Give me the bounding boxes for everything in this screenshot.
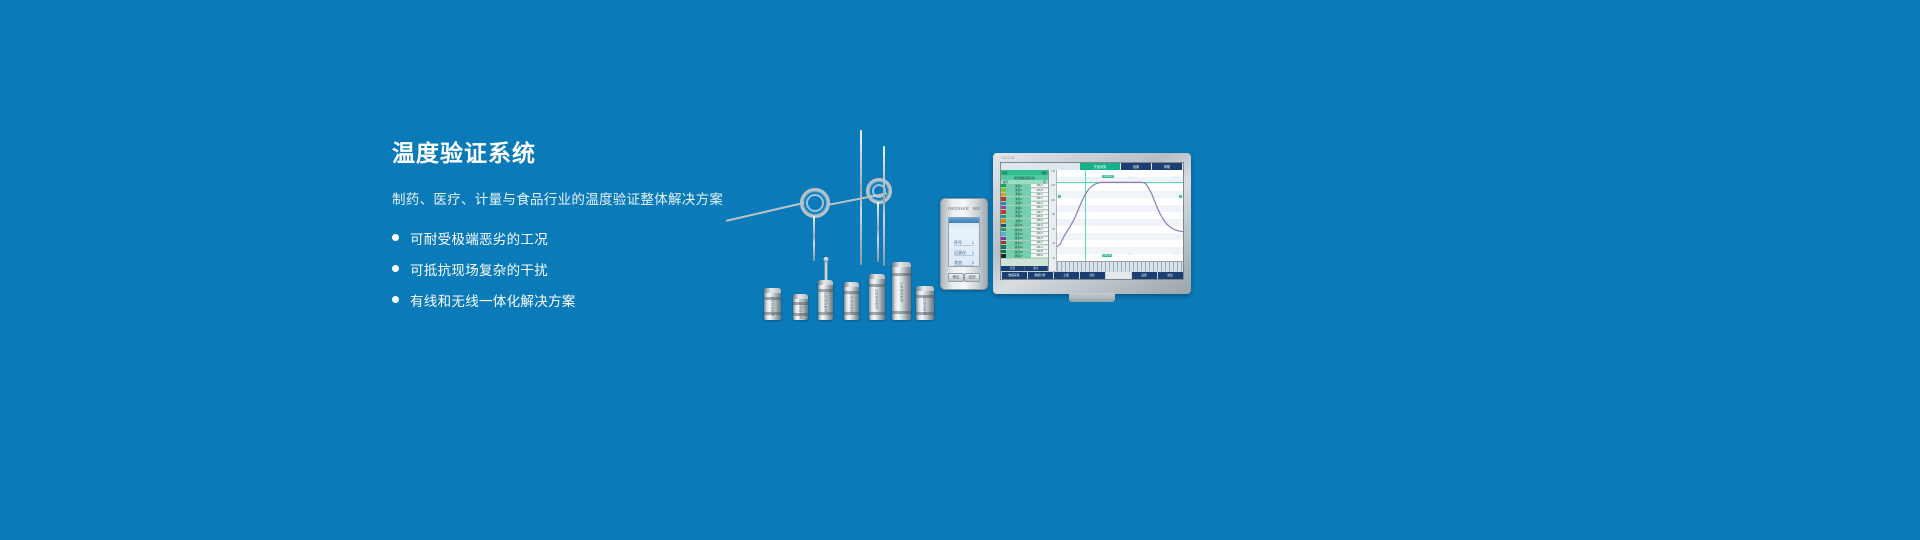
logger-label: LOGGER: [798, 299, 803, 319]
channel-name: 通道14: [1006, 241, 1031, 245]
bottom-bar-button-6[interactable]: 退出: [1158, 272, 1183, 279]
coil-icon: [800, 188, 830, 218]
coil-icon: [866, 178, 892, 204]
handheld-screen: 序号 1 记录仪 1 状态 1: [948, 217, 980, 267]
needle-probe-medium: [883, 146, 885, 266]
table-row[interactable]: 通道17116.5: [1001, 254, 1048, 258]
monitor-stand: [1069, 293, 1115, 302]
chart-annotation-threshold-left: ↕: [1058, 195, 1061, 198]
handheld-keypad[interactable]: 确定 返回: [948, 271, 980, 284]
monitor-screen: 开始采集 设置 帮助 通道 数值 通道数据采集列表 编号 值: [1000, 162, 1184, 280]
handheld-brand: INGNIKE: [948, 206, 969, 211]
channel-value: 116.8: [1031, 250, 1048, 253]
channel-value: 116.0: [1031, 219, 1048, 222]
logger-3: LOGGER: [818, 280, 833, 320]
list-item-label: 可耐受极端恶劣的工况: [410, 228, 548, 248]
channel-name: 通道7: [1006, 210, 1031, 214]
logger-label: LOGGER: [823, 292, 828, 312]
channel-row-list[interactable]: 通道1116.3通道2115.8通道3116.1通道4116.7通道5116.4…: [1001, 184, 1048, 266]
monitor-bezel: INON 开始采集 设置 帮助 通道 数值 通道数: [993, 153, 1191, 294]
channel-value: 116.5: [1031, 254, 1048, 257]
channel-sidebar: 通道 数值 通道数据采集列表 编号 值 通道1116.3通道2115.8通道31…: [1001, 170, 1049, 271]
channel-name: 通道4: [1006, 197, 1031, 201]
monitor-brand: INON: [1001, 155, 1015, 160]
handheld-row-label: 记录仪: [954, 250, 966, 256]
list-item-label: 可抵抗现场复杂的干扰: [410, 259, 548, 279]
handheld-titlebar: [949, 218, 979, 223]
bullet-dot-icon: [392, 234, 399, 241]
chart-ghost-label-left: 121.0: [1128, 176, 1135, 179]
channel-value: 116.7: [1031, 197, 1048, 200]
handheld-row: 状态 1: [954, 260, 974, 266]
bottom-bar-button-2[interactable]: 上报: [1054, 272, 1079, 279]
logger-4: LOGGER: [844, 282, 859, 320]
logger-6: LOGGER: [892, 262, 911, 320]
channel-name: 通道15: [1006, 245, 1031, 249]
chart-annotation-cursor-bottom: 0:32:11: [1102, 254, 1112, 257]
logger-1: LOGGER: [764, 288, 781, 320]
channel-value: 116.1: [1031, 193, 1048, 196]
needle-probe-long: [860, 130, 862, 265]
channel-value: 116.2: [1031, 206, 1048, 209]
channel-name: 通道13: [1006, 236, 1031, 240]
chart-ghost-label-bottom-left: 121.0: [1128, 253, 1135, 256]
bottom-bar-button-0[interactable]: 数据采集: [1002, 272, 1027, 279]
chart-plot-area[interactable]: 12:40:12 ↕ ↕ 0:32:11 121.0 121.0 121.0 1…: [1057, 170, 1183, 261]
handheld-row-value: 1: [972, 260, 974, 265]
handheld-key-back[interactable]: 返回: [964, 273, 980, 282]
logger-label: LOGGER: [770, 296, 775, 316]
temperature-chart[interactable]: 020406080100120140 12:40:12 ↕ ↕ 0:32:11 …: [1049, 170, 1183, 271]
logger-label: LOGGER: [849, 293, 854, 313]
monitor-display: INON 开始采集 设置 帮助 通道 数值 通道数: [993, 153, 1191, 294]
channel-header-right: 数值: [1042, 171, 1047, 175]
channel-name: 通道17: [1006, 254, 1031, 258]
channel-name: 通道8: [1006, 214, 1031, 218]
app-toolbar: 开始采集 设置 帮助: [1001, 163, 1183, 170]
chart-y-tick: 60: [1052, 228, 1055, 231]
channel-value: 116.5: [1031, 232, 1048, 235]
channel-value: 116.5: [1031, 215, 1048, 218]
chart-ghost-label-bottom-right: 121.0: [1173, 253, 1180, 256]
bottom-bar-spacer: [1106, 272, 1131, 279]
chart-y-tick: 0: [1054, 271, 1055, 274]
channel-value: 116.4: [1031, 202, 1048, 205]
channel-name: 通道6: [1006, 206, 1031, 210]
channel-value: 116.7: [1031, 241, 1048, 244]
toolbar-help-button[interactable]: 帮助: [1152, 163, 1182, 170]
handheld-brand-row: INGNIKE M1: [948, 206, 980, 211]
toolbar-start-button[interactable]: 开始采集: [1080, 163, 1120, 170]
logger-5: LOGGER: [869, 274, 885, 320]
handheld-model: M1: [973, 206, 980, 211]
channel-name: 通道5: [1006, 201, 1031, 205]
handheld-row: 记录仪 1: [954, 250, 974, 256]
list-item-label: 有线和无线一体化解决方案: [410, 290, 576, 310]
channel-name: 通道12: [1006, 232, 1031, 236]
channel-value: 116.7: [1031, 211, 1048, 214]
handheld-key-confirm[interactable]: 确定: [948, 273, 964, 282]
channel-value: 116.3: [1031, 224, 1048, 227]
chart-annotation-threshold-right: ↕: [1179, 195, 1182, 198]
logger-7: LOGGER: [916, 286, 934, 320]
channel-header-left: 通道: [1002, 171, 1007, 175]
bullet-dot-icon: [392, 265, 399, 272]
chart-y-tick: 20: [1052, 257, 1055, 260]
app-body: 通道 数值 通道数据采集列表 编号 值 通道1116.3通道2115.8通道31…: [1001, 170, 1183, 271]
handheld-row-label: 序号: [954, 240, 962, 246]
chart-y-tick: 140: [1051, 170, 1055, 173]
channel-value: 116.4: [1031, 246, 1048, 249]
logger-label: LOGGER: [899, 282, 904, 302]
channel-value: 116.3: [1031, 184, 1048, 187]
chart-ghost-label-right: 121.0: [1173, 176, 1180, 179]
chart-horizontal-scrollbar[interactable]: [1057, 261, 1183, 271]
channel-name: 通道2: [1006, 188, 1031, 192]
channel-value: 116.1: [1031, 228, 1048, 231]
chart-annotation-cursor-top: 12:40:12: [1102, 175, 1113, 178]
channel-value: 116.3: [1031, 237, 1048, 240]
channel-value: 115.8: [1031, 189, 1048, 192]
logger-label: LOGGER: [923, 295, 928, 315]
hero-banner: 温度验证系统 制药、医疗、计量与食品行业的温度验证整体解决方案 可耐受极端恶劣的…: [0, 0, 1920, 540]
bullet-dot-icon: [392, 296, 399, 303]
handheld-row-value: 1: [972, 250, 974, 255]
channel-name: 通道11: [1006, 228, 1031, 232]
handheld-row-value: 1: [972, 240, 974, 245]
channel-name: 通道3: [1006, 192, 1031, 196]
toolbar-settings-button[interactable]: 设置: [1121, 163, 1151, 170]
handheld-row: 序号 1: [954, 240, 974, 246]
chart-y-axis: 020406080100120140: [1049, 170, 1057, 271]
bottom-bar-button-3[interactable]: 对比: [1080, 272, 1105, 279]
logger-label: LOGGER: [875, 289, 880, 309]
chart-y-tick: 80: [1052, 213, 1055, 216]
handheld-device[interactable]: INGNIKE M1 序号 1 记录仪 1 状态 1 确定: [940, 198, 988, 290]
bottom-bar-button-1[interactable]: 数据分析: [1028, 272, 1053, 279]
bottom-bar-button-5[interactable]: 设置: [1132, 272, 1157, 279]
chart-y-tick: 100: [1051, 199, 1055, 202]
channel-name: 通道10: [1006, 223, 1031, 227]
chart-y-tick: 120: [1051, 184, 1055, 187]
chart-y-tick: 40: [1052, 242, 1055, 245]
logger-2: LOGGER: [793, 294, 808, 320]
channel-name: 通道16: [1006, 250, 1031, 254]
chart-series-line: [1057, 170, 1183, 261]
channel-name: 通道9: [1006, 219, 1031, 223]
handheld-row-label: 状态: [954, 260, 962, 266]
app-bottom-bar[interactable]: 数据采集数据分析上报对比设置退出: [1001, 271, 1183, 279]
